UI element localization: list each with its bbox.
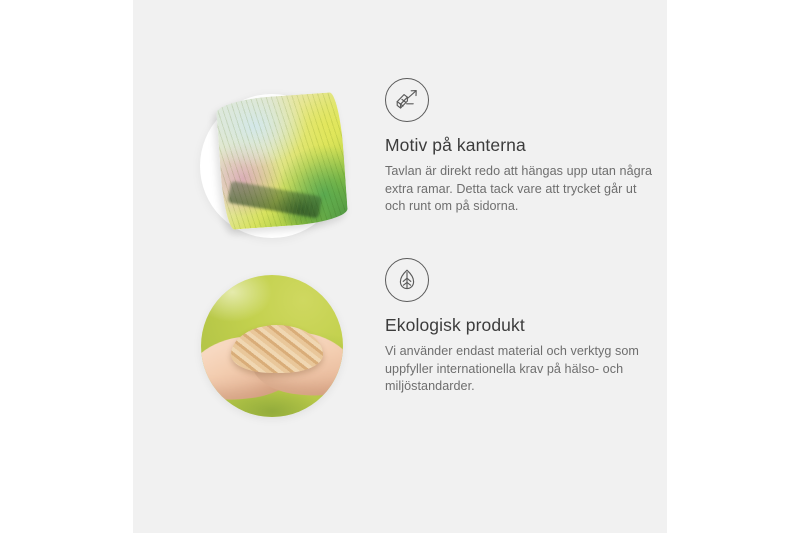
feature-copy-canvas-edges: Motiv på kanterna Tavlan är direkt redo … [385,78,667,216]
canvas-print-corner-photo [198,92,346,240]
canvas-corner-artwork [216,92,349,230]
feature-body: Tavlan är direkt redo att hängas upp uta… [385,163,657,216]
content-panel: Motiv på kanterna Tavlan är direkt redo … [133,0,667,533]
feature-row-eco-product: Ekologisk produkt Vi använder endast mat… [133,258,667,428]
feature-body: Vi använder endast material och verktyg … [385,343,657,396]
feature-title: Motiv på kanterna [385,135,667,156]
leaf-icon [385,258,429,302]
product-feature-graphic: Motiv på kanterna Tavlan är direkt redo … [0,0,800,533]
feature-row-canvas-edges: Motiv på kanterna Tavlan är direkt redo … [133,78,667,248]
green-photo-disc [201,275,343,417]
canvas-edge-print-icon [385,78,429,122]
feature-copy-eco-product: Ekologisk produkt Vi använder endast mat… [385,258,667,396]
canvas-wrapped-edge [227,181,321,219]
hands-holding-wood-chips-photo [198,272,346,420]
feature-title: Ekologisk produkt [385,315,667,336]
